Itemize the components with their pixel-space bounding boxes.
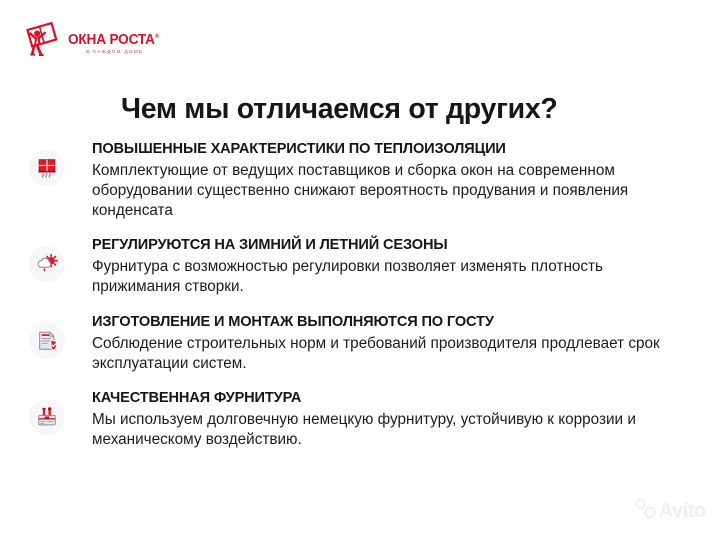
cloud-sun-season-adjust-icon — [29, 246, 65, 282]
avito-logo-icon — [634, 497, 656, 524]
brand-logo: ОКНА РОСТА® В КАЖДОМ ДОМЕ — [22, 20, 152, 64]
brand-name-text: ОКНА РОСТА — [68, 32, 155, 48]
man-with-window-frame-icon — [22, 21, 64, 63]
feature-text: ИЗГОТОВЛЕНИЕ И МОНТАЖ ВЫПОЛНЯЮТСЯ ПО ГОС… — [65, 313, 720, 374]
feature-list: ПОВЫШЕННЫЕ ХАРАКТЕРИСТИКИ ПО ТЕПЛОИЗОЛЯЦ… — [0, 140, 720, 450]
feature-text: ПОВЫШЕННЫЕ ХАРАКТЕРИСТИКИ ПО ТЕПЛОИЗОЛЯЦ… — [65, 140, 720, 221]
avito-watermark-text: Avito — [659, 501, 706, 521]
list-item: ИЗГОТОВЛЕНИЕ И МОНТАЖ ВЫПОЛНЯЮТСЯ ПО ГОС… — [0, 313, 720, 374]
window-heat-insulation-icon — [29, 150, 65, 186]
document-shield-certificate-icon — [29, 323, 65, 359]
feature-body: Соблюдение строительных норм и требовани… — [92, 334, 670, 374]
feature-title: КАЧЕСТВЕННАЯ ФУРНИТУРА — [92, 389, 706, 407]
feature-body: Мы используем долговечную немецкую фурни… — [92, 410, 670, 450]
brand-wordmark: ОКНА РОСТА® В КАЖДОМ ДОМЕ — [68, 29, 165, 55]
brand-name: ОКНА РОСТА® — [68, 33, 159, 48]
feature-body: Фурнитура с возможностью регулировки поз… — [92, 257, 670, 297]
toolbox-hardware-icon — [29, 399, 65, 435]
feature-title: ИЗГОТОВЛЕНИЕ И МОНТАЖ ВЫПОЛНЯЮТСЯ ПО ГОС… — [92, 313, 706, 331]
brand-tagline: В КАЖДОМ ДОМЕ — [68, 50, 162, 55]
avito-watermark: Avito — [634, 497, 706, 524]
promo-card: ОКНА РОСТА® В КАЖДОМ ДОМЕ Чем мы отличае… — [0, 0, 720, 540]
page-title: Чем мы отличаемся от других? — [121, 93, 558, 126]
feature-text: КАЧЕСТВЕННАЯ ФУРНИТУРА Мы используем дол… — [65, 389, 720, 450]
feature-title: РЕГУЛИРУЮТСЯ НА ЗИМНИЙ И ЛЕТНИЙ СЕЗОНЫ — [92, 236, 706, 254]
feature-body: Комплектующие от ведущих поставщиков и с… — [92, 161, 670, 221]
feature-text: РЕГУЛИРУЮТСЯ НА ЗИМНИЙ И ЛЕТНИЙ СЕЗОНЫ Ф… — [65, 236, 720, 297]
list-item: РЕГУЛИРУЮТСЯ НА ЗИМНИЙ И ЛЕТНИЙ СЕЗОНЫ Ф… — [0, 236, 720, 297]
list-item: КАЧЕСТВЕННАЯ ФУРНИТУРА Мы используем дол… — [0, 389, 720, 450]
list-item: ПОВЫШЕННЫЕ ХАРАКТЕРИСТИКИ ПО ТЕПЛОИЗОЛЯЦ… — [0, 140, 720, 221]
feature-title: ПОВЫШЕННЫЕ ХАРАКТЕРИСТИКИ ПО ТЕПЛОИЗОЛЯЦ… — [92, 140, 706, 158]
registered-mark: ® — [155, 34, 159, 40]
